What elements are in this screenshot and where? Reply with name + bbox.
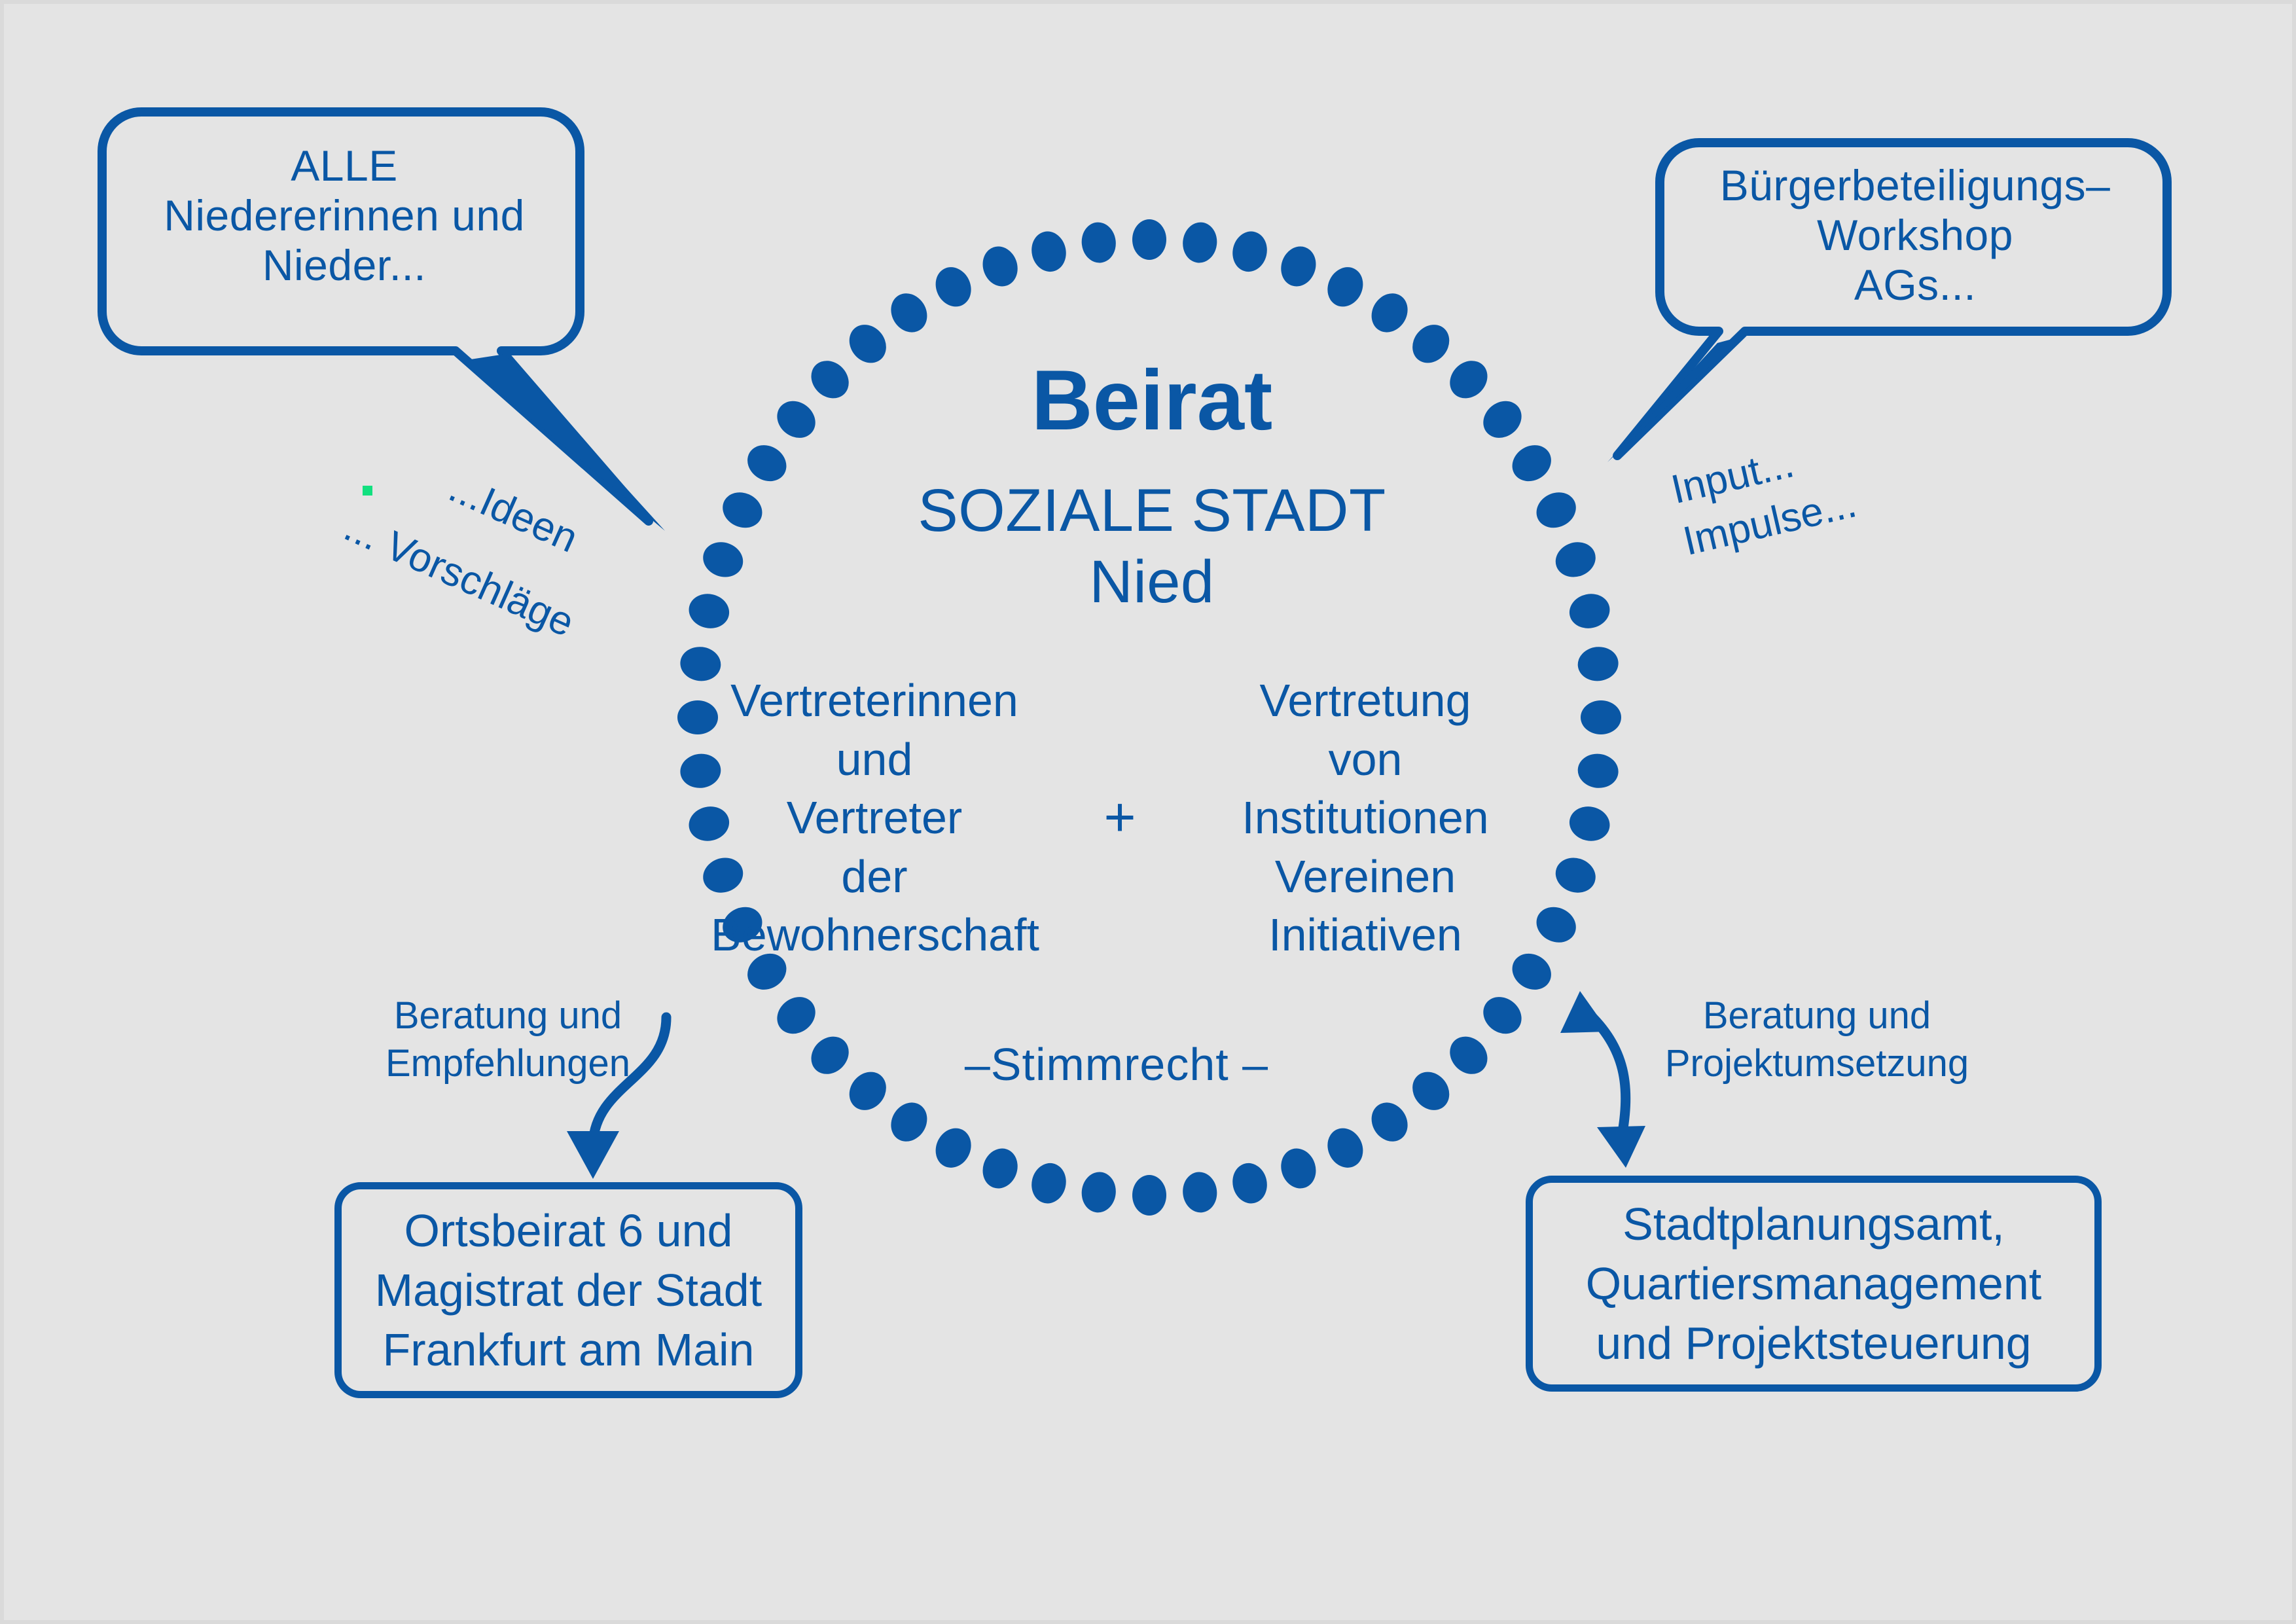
- ring-dot: [1028, 228, 1069, 275]
- box-ortsbeirat[interactable]: Ortsbeirat 6 und Magistrat der Stadt Fra…: [334, 1182, 802, 1398]
- ring-dot: [1229, 228, 1270, 275]
- ring-dot: [1581, 700, 1621, 734]
- center-title: Beirat: [825, 357, 1479, 442]
- ring-dot: [842, 1064, 893, 1117]
- ring-dot: [1365, 1096, 1415, 1148]
- ring-dot: [1181, 221, 1219, 264]
- ring-dot: [1079, 1170, 1118, 1214]
- ring-dot: [1530, 486, 1581, 534]
- ring-dot: [770, 989, 823, 1041]
- annotation-left-outflow: Beratung und Empfehlungen: [351, 992, 665, 1087]
- ring-dot: [1476, 989, 1529, 1041]
- center-left-column: Vertreterinnen und Vertreter der Bewohne…: [711, 672, 1038, 965]
- ring-dot: [1530, 901, 1581, 949]
- ring-dot: [1079, 221, 1118, 264]
- ring-dot: [1028, 1160, 1069, 1207]
- center-subtitle: SOZIALE STADT Nied: [825, 475, 1479, 617]
- ring-dot: [1551, 537, 1600, 583]
- ring-dot: [929, 261, 978, 312]
- ring-dot: [884, 1096, 934, 1148]
- box-stadtplanungsamt[interactable]: Stadtplanungsamt, Quartiersmanagement un…: [1526, 1176, 2102, 1392]
- ring-dot: [1576, 645, 1620, 683]
- speech-bubble-top-right-text: Bürgerbeteiligungs– Workshop AGs...: [1660, 161, 2170, 310]
- ring-dot: [717, 486, 768, 534]
- ring-dot: [1566, 590, 1613, 632]
- ring-dot: [1476, 393, 1529, 445]
- ring-dot: [1405, 1064, 1457, 1117]
- ring-dot: [1365, 287, 1415, 339]
- diagram-canvas: ALLE Niedererinnen und Nieder... Bürgerb…: [0, 0, 2296, 1624]
- ring-dot: [1132, 219, 1166, 260]
- plus-icon: +: [1084, 789, 1156, 844]
- annotation-right-outflow: Beratung und Projektumsetzung: [1640, 992, 1994, 1087]
- speech-bubble-top-left-text: ALLE Niedererinnen und Nieder...: [102, 141, 586, 291]
- ring-dot: [1566, 803, 1613, 844]
- ring-dot: [804, 1029, 857, 1082]
- box-stadtplanungsamt-text: Stadtplanungsamt, Quartiersmanagement un…: [1533, 1195, 2094, 1373]
- ring-dot: [1443, 1029, 1496, 1082]
- ring-dot: [1132, 1175, 1166, 1216]
- ring-dot: [1505, 438, 1558, 488]
- ring-dot: [977, 242, 1023, 291]
- ring-dot: [685, 590, 732, 632]
- center-footer: –Stimmrecht –: [907, 1038, 1326, 1091]
- ring-dot: [1551, 852, 1600, 898]
- ring-dot: [1229, 1160, 1270, 1207]
- green-accent-dot: [363, 486, 372, 496]
- box-ortsbeirat-text: Ortsbeirat 6 und Magistrat der Stadt Fra…: [342, 1201, 795, 1380]
- ring-dot: [977, 1144, 1023, 1193]
- center-right-column: Vertretung von Institutionen Vereinen In…: [1202, 672, 1529, 965]
- ring-dot: [1321, 1122, 1370, 1173]
- ring-dot: [770, 393, 823, 445]
- ring-dot: [884, 287, 934, 339]
- ring-dot: [1276, 242, 1321, 291]
- ring-dot: [741, 438, 793, 488]
- ring-dot: [698, 537, 748, 583]
- ring-dot: [1576, 751, 1620, 790]
- ring-dot: [1321, 261, 1370, 312]
- ring-dot: [929, 1122, 978, 1173]
- ring-dot: [1181, 1170, 1219, 1214]
- ring-dot: [1276, 1144, 1321, 1193]
- arrow-right-double: [1560, 991, 1645, 1168]
